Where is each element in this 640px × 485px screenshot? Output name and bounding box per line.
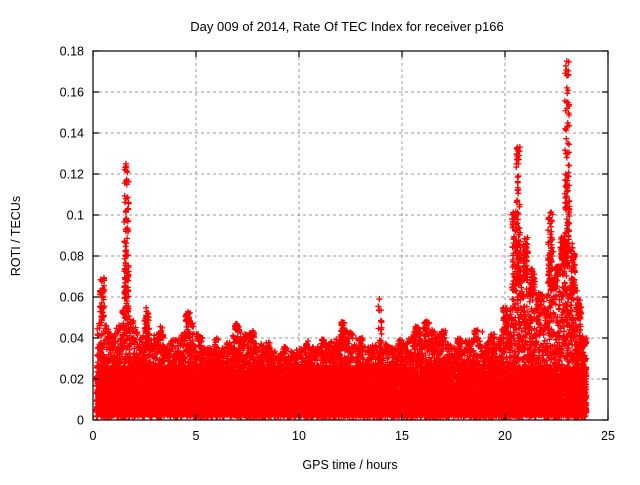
chart-figure: Day 009 of 2014, Rate Of TEC Index for r… (0, 0, 640, 480)
y-tick-label: 0.14 (60, 127, 84, 141)
x-tick-label: 15 (395, 429, 409, 443)
y-tick-label: 0.02 (60, 373, 84, 387)
y-tick-label: 0.04 (60, 332, 84, 346)
x-tick-label: 20 (498, 429, 512, 443)
x-axis-label: GPS time / hours (302, 458, 397, 472)
x-tick-label: 25 (601, 429, 615, 443)
y-tick-label: 0.18 (60, 45, 84, 59)
y-axis-label: ROTI / TECUs (9, 196, 23, 276)
y-tick-label: 0.16 (60, 86, 84, 100)
y-tick-label: 0 (77, 414, 84, 428)
chart-title: Day 009 of 2014, Rate Of TEC Index for r… (190, 19, 503, 34)
x-tick-label: 10 (292, 429, 306, 443)
y-tick-label: 0.08 (60, 250, 84, 264)
y-tick-label: 0.06 (60, 291, 84, 305)
y-tick-label: 0.12 (60, 168, 84, 182)
x-tick-label: 5 (193, 429, 200, 443)
roti-scatter-plot: Day 009 of 2014, Rate Of TEC Index for r… (0, 0, 640, 480)
y-tick-label: 0.1 (67, 209, 84, 223)
x-tick-label: 0 (90, 429, 97, 443)
